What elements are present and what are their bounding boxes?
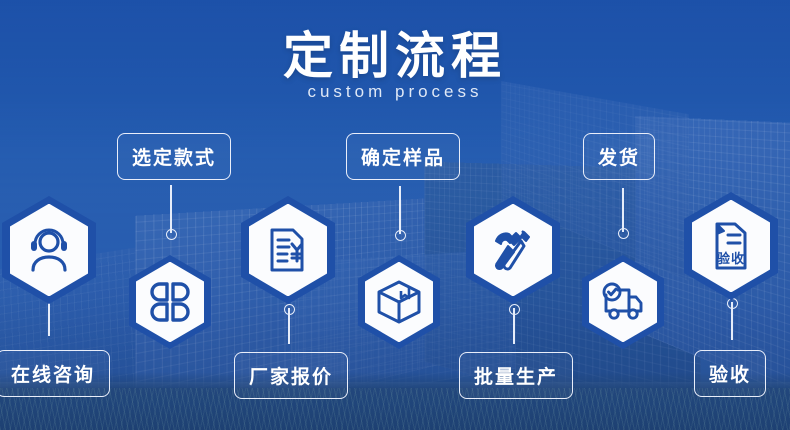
package-box-icon	[376, 279, 422, 325]
step-icon-wrap-6	[589, 262, 658, 343]
step-icon-wrap-3	[249, 204, 328, 297]
connector-dot-step-3	[284, 304, 295, 315]
process-banner: 定制流程 custom process 在线咨询 选定款式	[0, 0, 790, 430]
step-icon-wrap-2	[136, 262, 205, 343]
step-icon-wrap-4	[365, 262, 434, 343]
step-icon-wrap-7: 验收	[692, 200, 771, 293]
connector-dot-step-5	[509, 304, 520, 315]
hammer-screwdriver-icon	[488, 225, 538, 275]
step-label-5[interactable]: 批量生产	[459, 352, 573, 399]
connector-dot-step-4	[395, 230, 406, 241]
connector-line-step-2	[170, 185, 172, 233]
delivery-truck-check-icon	[600, 281, 646, 323]
headset-support-icon	[23, 224, 75, 276]
four-petal-clover-icon	[148, 280, 192, 324]
step-icon-wrap-1	[10, 204, 89, 297]
step-label-7[interactable]: 验收	[694, 350, 766, 397]
connector-line-step-4	[399, 186, 401, 234]
connector-dot-step-2	[166, 229, 177, 240]
page-subtitle: custom process	[0, 82, 790, 102]
step-label-4[interactable]: 确定样品	[346, 133, 460, 180]
connector-dot-step-6	[618, 228, 629, 239]
connector-line-step-6	[622, 188, 624, 232]
page-title: 定制流程	[0, 16, 790, 88]
step-label-2[interactable]: 选定款式	[117, 133, 231, 180]
connector-dot-step-7	[727, 298, 738, 309]
step-label-3[interactable]: 厂家报价	[234, 352, 348, 399]
step-icon-wrap-5	[474, 204, 553, 297]
acceptance-icon-text: 验收	[707, 248, 755, 267]
step-label-6[interactable]: 发货	[583, 133, 655, 180]
invoice-yuan-icon	[263, 225, 313, 275]
acceptance-document-icon: 验收	[707, 220, 755, 272]
step-label-1[interactable]: 在线咨询	[0, 350, 110, 397]
